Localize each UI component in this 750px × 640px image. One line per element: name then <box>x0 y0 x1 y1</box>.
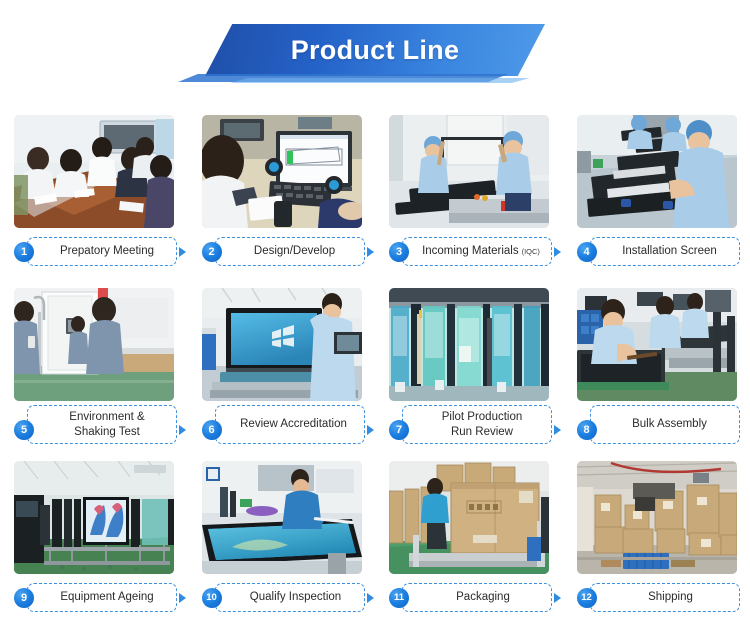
process-step-6[interactable]: 6 Review Accreditation <box>188 277 376 450</box>
step-label: Pilot Production Run Review <box>442 410 523 439</box>
step-badge: 12 <box>577 588 597 608</box>
step-label-box[interactable]: Installation Screen <box>590 237 740 266</box>
process-step-4[interactable]: 4 Installation Screen <box>563 104 750 277</box>
qualify-inspection-photo <box>202 461 362 574</box>
display-review-photo <box>202 288 362 401</box>
step-label-box[interactable]: Equipment Ageing <box>27 583 177 612</box>
step-badge: 11 <box>389 588 409 608</box>
step-badge: 3 <box>389 242 409 262</box>
step-badge: 6 <box>202 420 222 440</box>
process-step-3[interactable]: 3 Incoming Materials(IQC) <box>375 104 563 277</box>
step-label-box[interactable]: Incoming Materials(IQC) <box>402 237 552 266</box>
process-step-grid: 1 Prepatory Meeting <box>0 104 750 623</box>
step-arrow-icon <box>367 593 374 603</box>
step-arrow-icon <box>554 425 561 435</box>
step-arrow-icon <box>179 593 186 603</box>
step-arrow-icon <box>367 247 374 257</box>
step-label-box[interactable]: Prepatory Meeting <box>27 237 177 266</box>
step-label: Design/Develop <box>254 244 335 258</box>
process-step-1[interactable]: 1 Prepatory Meeting <box>0 104 188 277</box>
step-label-qualifier: (IQC) <box>522 247 540 256</box>
process-step-12[interactable]: 12 Shipping <box>563 450 750 623</box>
step-label: Prepatory Meeting <box>60 244 154 258</box>
glass-panel-rack-photo <box>389 288 549 401</box>
step-label-box[interactable]: Packaging <box>402 583 552 612</box>
step-label-box[interactable]: Review Accreditation <box>215 405 365 444</box>
step-label: Environment & Shaking Test <box>69 410 144 439</box>
process-step-2[interactable]: 2 Design/Develop <box>188 104 376 277</box>
process-step-5[interactable]: 5 Environment & Shaking Test <box>0 277 188 450</box>
shipping-warehouse-photo <box>577 461 737 574</box>
screen-installation-photo <box>577 115 737 228</box>
step-badge: 8 <box>577 420 597 440</box>
step-label-box[interactable]: Qualify Inspection <box>215 583 365 612</box>
page-title: Product Line <box>291 35 460 66</box>
process-step-8[interactable]: 8 Bulk Assembly <box>563 277 750 450</box>
environmental-chamber-photo <box>14 288 174 401</box>
step-badge: 2 <box>202 242 222 262</box>
step-arrow-icon <box>554 247 561 257</box>
meeting-room-photo <box>14 115 174 228</box>
incoming-materials-photo <box>389 115 549 228</box>
step-label: Shipping <box>648 590 693 604</box>
packaging-photo <box>389 461 549 574</box>
banner-shape: Product Line <box>205 24 545 76</box>
ageing-rack-photo <box>14 461 174 574</box>
bulk-assembly-photo <box>577 288 737 401</box>
step-label: Bulk Assembly <box>632 417 707 431</box>
banner-underline-secondary <box>230 78 530 83</box>
process-step-7[interactable]: 7 Pilot Production Run Review <box>375 277 563 450</box>
step-badge: 5 <box>14 420 34 440</box>
step-badge: 9 <box>14 588 34 608</box>
step-badge: 10 <box>202 588 222 608</box>
page-header: Product Line <box>0 0 750 96</box>
step-label: Packaging <box>456 590 510 604</box>
step-arrow-icon <box>367 425 374 435</box>
step-label: Qualify Inspection <box>250 590 341 604</box>
step-label: Incoming Materials <box>422 244 519 258</box>
cad-workstation-photo <box>202 115 362 228</box>
step-arrow-icon <box>179 247 186 257</box>
step-arrow-icon <box>554 593 561 603</box>
step-label-box[interactable]: Design/Develop <box>215 237 365 266</box>
step-arrow-icon <box>179 425 186 435</box>
step-label-box[interactable]: Environment & Shaking Test <box>27 405 177 444</box>
step-badge: 4 <box>577 242 597 262</box>
step-label: Equipment Ageing <box>60 590 153 604</box>
step-label-box[interactable]: Shipping <box>590 583 740 612</box>
step-label: Review Accreditation <box>240 417 347 431</box>
process-step-9[interactable]: 9 Equipment Ageing <box>0 450 188 623</box>
step-badge: 7 <box>389 420 409 440</box>
step-label: Installation Screen <box>622 244 717 258</box>
process-step-11[interactable]: 11 Packaging <box>375 450 563 623</box>
step-badge: 1 <box>14 242 34 262</box>
step-label-box[interactable]: Bulk Assembly <box>590 405 740 444</box>
process-step-10[interactable]: 10 Qualify Inspection <box>188 450 376 623</box>
step-label-box[interactable]: Pilot Production Run Review <box>402 405 552 444</box>
